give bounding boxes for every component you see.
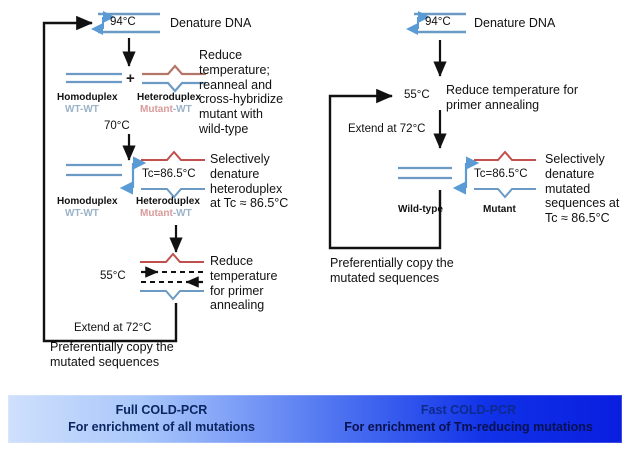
- right-loop-note: Preferentially copy the mutated sequence…: [330, 256, 454, 286]
- left-heteroduplex-mutant-text: Mutant: [140, 104, 173, 115]
- left-tc-temp: Tc=86.5°C: [142, 168, 196, 182]
- left-tc-homoduplex-sublabel: WT-WT: [65, 208, 99, 220]
- banner-full-cold-pcr: Full COLD-PCR For enrichment of all muta…: [8, 395, 315, 443]
- left-denature-description: Denature DNA: [170, 16, 251, 31]
- left-heteroduplex-label: Heteroduplex: [137, 92, 201, 104]
- left-primer-annealing-strands: [140, 254, 204, 299]
- left-feedback-loop: [44, 23, 176, 341]
- left-heteroduplex-strands: [142, 66, 206, 91]
- left-homoduplex-sublabel: WT-WT: [65, 104, 99, 116]
- right-denature-description: Denature DNA: [474, 16, 555, 31]
- summary-banner: Full COLD-PCR For enrichment of all muta…: [8, 395, 622, 443]
- left-reanneal-temp: 70°C: [104, 120, 130, 134]
- right-denature-temp: 94°C: [425, 16, 451, 30]
- right-anneal-description: Reduce temperature for primer annealing: [446, 83, 578, 113]
- cold-pcr-diagram: [0, 0, 630, 450]
- left-tc-heteroduplex-sublabel: Mutant-WT: [140, 208, 192, 220]
- right-wildtype-label: Wild-type: [398, 204, 443, 216]
- banner-full-title: Full COLD-PCR: [116, 402, 208, 419]
- right-anneal-temp: 55°C: [404, 89, 430, 103]
- left-denature-temp: 94°C: [110, 16, 136, 30]
- left-tc-heteroduplex-wt-text: WT: [176, 208, 192, 219]
- left-loop-note: Preferentially copy the mutated sequence…: [50, 340, 174, 370]
- left-tc-description: Selectively denature heteroduplex at Tc …: [210, 152, 288, 211]
- left-tc-homoduplex-label: Homoduplex: [57, 196, 118, 208]
- banner-fast-cold-pcr: Fast COLD-PCR For enrichment of Tm-reduc…: [315, 395, 622, 443]
- left-homoduplex-strands: [66, 74, 122, 82]
- left-anneal-temp: 55°C: [100, 270, 126, 284]
- banner-full-subtitle: For enrichment of all mutations: [68, 419, 255, 436]
- left-tc-heteroduplex-label: Heteroduplex: [136, 196, 200, 208]
- right-extend-label: Extend at 72°C: [348, 123, 425, 137]
- left-tc-heteroduplex-mutant-text: Mutant: [140, 208, 173, 219]
- right-mutant-label: Mutant: [483, 204, 516, 216]
- left-plus-sign: +: [126, 70, 135, 88]
- left-heteroduplex-sublabel: Mutant-WT: [140, 104, 192, 116]
- left-heteroduplex-wt-text: WT: [176, 104, 192, 115]
- left-tc-homoduplex-strands: [66, 165, 122, 175]
- left-reanneal-description: Reduce temperature; reanneal and cross-h…: [199, 48, 283, 137]
- left-homoduplex-label: Homoduplex: [57, 92, 118, 104]
- right-tc-temp: Tc=86.5°C: [474, 168, 528, 182]
- banner-fast-subtitle: For enrichment of Tm-reducing mutations: [344, 419, 593, 436]
- left-extend-label: Extend at 72°C: [74, 322, 151, 336]
- right-tc-description: Selectively denature mutated sequences a…: [545, 152, 619, 226]
- banner-fast-title: Fast COLD-PCR: [421, 402, 516, 419]
- left-anneal-description: Reduce temperature for primer annealing: [210, 254, 277, 313]
- right-wildtype-strands: [398, 168, 452, 178]
- right-feedback-loop: [330, 96, 440, 248]
